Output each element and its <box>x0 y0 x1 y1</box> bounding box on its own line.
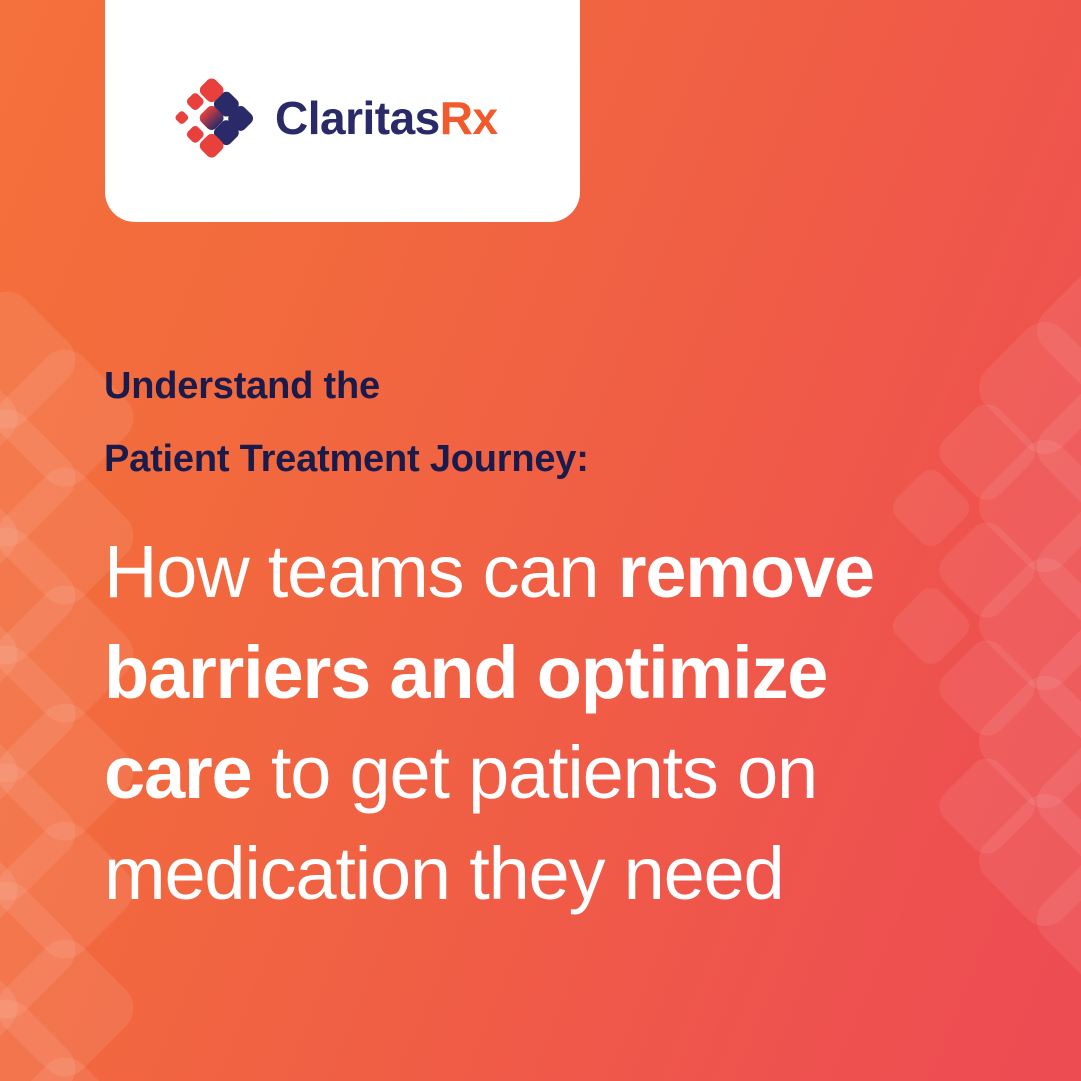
diamond-shape <box>0 753 86 911</box>
diamond-shape <box>1027 844 1081 997</box>
diamond-shape <box>0 517 86 675</box>
eyebrow-line-1: Understand the <box>104 350 984 423</box>
diamond-shape <box>0 399 86 557</box>
claritasrx-wordmark: ClaritasRx <box>275 95 498 141</box>
claritasrx-diamond-mark <box>173 76 257 160</box>
headline-run-3-1: care <box>104 731 251 814</box>
headline-line-1: How teams can remove <box>104 522 1004 623</box>
diamond-shape <box>0 1047 28 1081</box>
diamond-shape <box>0 1047 144 1081</box>
diamond-shape <box>1027 608 1081 761</box>
diamond-shape <box>969 312 1081 465</box>
headline-line-3: care to get patients on <box>104 723 1004 824</box>
diamond-shape <box>0 281 86 439</box>
headline-line-4: medication they need <box>104 824 1004 925</box>
diamond-shape <box>1027 372 1081 525</box>
eyebrow-line-2: Patient Treatment Journey: <box>104 423 984 496</box>
claritasrx-logo: ClaritasRx <box>173 76 498 160</box>
headline-run-1-2: remove <box>618 530 874 613</box>
headline-run-3-2: to get patients on <box>251 731 817 814</box>
diamond-shape <box>0 575 28 733</box>
diamond-shape <box>0 929 28 1081</box>
headline-run-4-1: medication they need <box>104 832 783 915</box>
diamond-shape <box>1027 254 1081 407</box>
logo-card: ClaritasRx <box>105 0 580 222</box>
diamond-shape <box>0 929 144 1081</box>
diamond-shape <box>0 811 28 969</box>
headline-run-2-1: barriers and optimize <box>104 631 827 714</box>
headline-line-2: barriers and optimize <box>104 623 1004 724</box>
eyebrow-heading: Understand the Patient Treatment Journey… <box>104 350 984 496</box>
diamond-shape <box>0 989 86 1081</box>
social-card-canvas: ClaritasRx Understand the Patient Treatm… <box>0 0 1081 1081</box>
diamond-shape <box>1027 726 1081 879</box>
diamond-shape <box>1027 490 1081 643</box>
diamond-shape <box>0 635 86 793</box>
diamond-shape <box>0 871 86 1029</box>
wordmark-rx: Rx <box>440 92 498 144</box>
headline-run-1-1: How teams can <box>104 530 618 613</box>
diamond-shape <box>0 457 28 615</box>
main-headline: How teams can removebarriers and optimiz… <box>104 522 1004 925</box>
wordmark-claritas: Claritas <box>275 92 440 144</box>
diamond-shape <box>0 693 28 851</box>
diamond-shape <box>0 339 28 497</box>
